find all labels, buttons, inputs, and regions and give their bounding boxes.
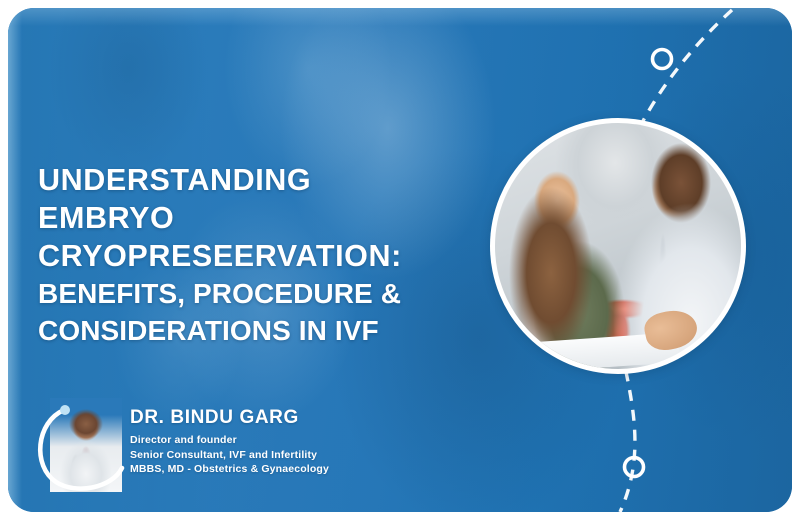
credential-line-2: Senior Consultant, IVF and Infertility [130, 448, 329, 463]
author-credentials: Director and founder Senior Consultant, … [130, 433, 329, 477]
author-byline: DR. BINDU GARG Director and founder Seni… [34, 396, 454, 496]
background-top-sheen [8, 8, 792, 26]
hero-photo-image [495, 123, 741, 369]
credential-line-3: MBBS, MD - Obstetrics & Gynaecology [130, 462, 329, 477]
page-title: UNDERSTANDING EMBRYO CRYOPRESEERVATION: … [38, 161, 468, 349]
blog-banner: UNDERSTANDING EMBRYO CRYOPRESEERVATION: … [8, 8, 792, 512]
headline-line-3: CRYOPRESEERVATION: [38, 237, 468, 275]
author-text: DR. BINDU GARG Director and founder Seni… [130, 406, 329, 477]
avatar [34, 396, 130, 492]
avatar-swoosh-icon [34, 396, 130, 492]
headline-line-2: EMBRYO [38, 199, 468, 237]
credential-line-1: Director and founder [130, 433, 329, 448]
hero-photo-circle [490, 118, 746, 374]
headline-line-1: UNDERSTANDING [38, 161, 468, 199]
background-left-band [8, 8, 22, 512]
headline-line-4: BENEFITS, PROCEDURE & [38, 275, 468, 312]
headline-line-5: CONSIDERATIONS IN IVF [38, 312, 468, 349]
author-name: DR. BINDU GARG [130, 406, 329, 430]
